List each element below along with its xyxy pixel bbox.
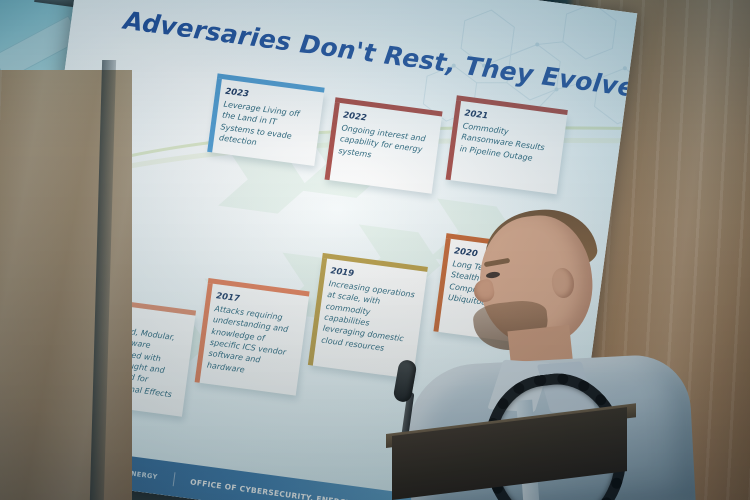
timeline-card-2022: 2022 Ongoing interest and capability for…	[325, 102, 442, 194]
speaker-person	[392, 210, 692, 500]
footer-divider	[172, 472, 175, 486]
timeline-card-2021: 2021 Commodity Ransomware Results in Pip…	[446, 100, 568, 194]
card-text: Attacks requiring understanding and know…	[206, 303, 297, 382]
card-text: Leverage Living off the Land in IT Syste…	[218, 99, 312, 156]
presentation-photo: Adversaries Don't Rest, They Evolve	[0, 0, 750, 500]
timeline-card-2017: 2017 Attacks requiring understanding and…	[195, 283, 309, 396]
timeline-card-2023: 2023 Leverage Living off the Land in IT …	[207, 78, 324, 166]
